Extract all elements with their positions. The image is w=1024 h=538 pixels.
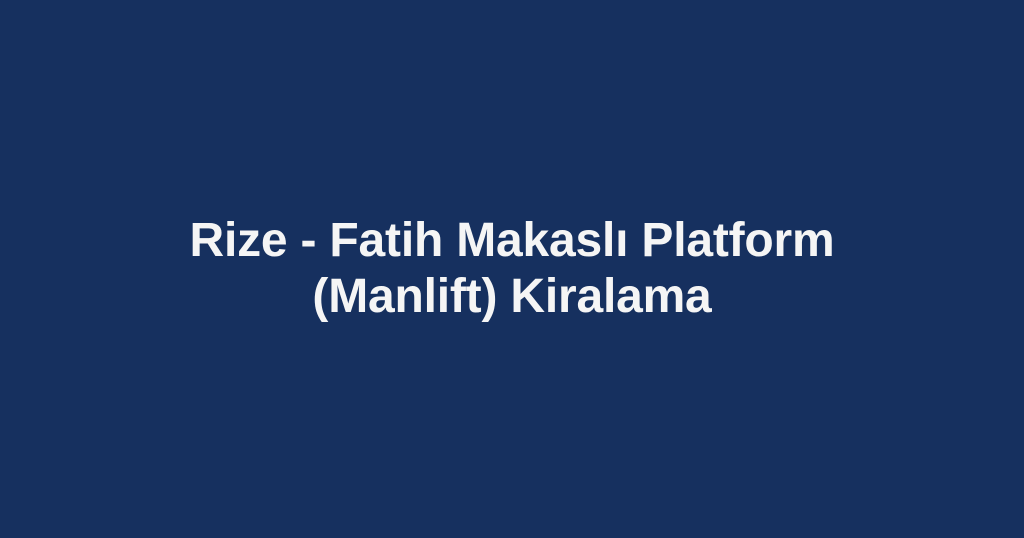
share-card-content: Rize - Fatih Makaslı Platform (Manlift) …	[72, 213, 952, 325]
page-title: Rize - Fatih Makaslı Platform (Manlift) …	[72, 213, 952, 325]
share-card: Rize - Fatih Makaslı Platform (Manlift) …	[0, 0, 1024, 538]
